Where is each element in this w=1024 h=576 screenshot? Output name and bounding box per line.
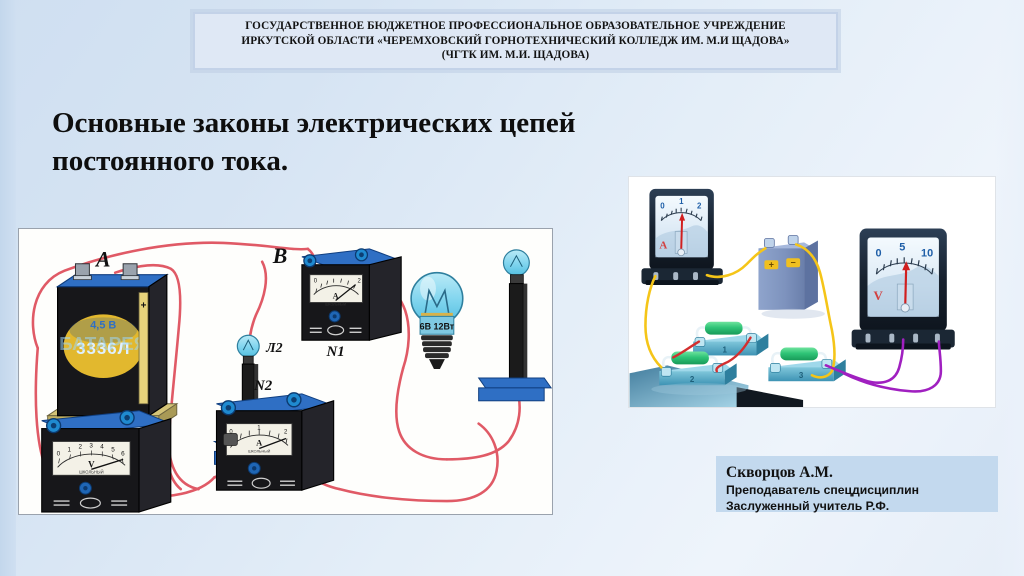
svg-text:ШКОЛЬНЫЙ: ШКОЛЬНЫЙ [325, 302, 346, 306]
battery-minus-label: − [791, 258, 796, 268]
svg-text:A: A [256, 437, 263, 447]
lab-setup-photo: 0 1 2 A [628, 176, 996, 408]
ammeter-n1: 0 2 A ШКОЛЬНЫЙ [302, 249, 401, 340]
svg-text:1: 1 [68, 446, 72, 453]
institution-line-3: (ЧГТК ИМ. М.И. ЩАДОВА) [442, 48, 589, 63]
meter-n1-label: N1 [326, 344, 345, 360]
svg-text:0: 0 [57, 450, 61, 457]
circuit-node-b-label: В [272, 244, 288, 268]
institution-line-2: ИРКУТСКОЙ ОБЛАСТИ «ЧЕРЕМХОВСКИЙ ГОРНОТЕХ… [241, 34, 789, 49]
photo-ammeter: 0 1 2 A [641, 189, 722, 285]
author-role: Преподаватель спецдисциплин [726, 482, 998, 498]
institution-line-1: ГОСУДАРСТВЕННОЕ БЮДЖЕТНОЕ ПРОФЕССИОНАЛЬН… [245, 19, 786, 34]
photo-voltmeter-unit: V [873, 289, 883, 303]
svg-text:2: 2 [357, 279, 360, 285]
resistor-2-label: 2 [690, 375, 695, 384]
author-honor: Заслуженный учитель Р.Ф. [726, 498, 998, 514]
slide-canvas: ГОСУДАРСТВЕННОЕ БЮДЖЕТНОЕ ПРОФЕССИОНАЛЬН… [0, 0, 1024, 576]
page-title-line-2: постоянного тока. [52, 142, 742, 180]
lamp-rating-label: 6В 12Вт [420, 321, 455, 331]
voltmeter-school: 012 345 6 V ШКОЛЬНЫЙ [42, 411, 171, 512]
photo-voltmeter-tick-5: 5 [899, 241, 905, 253]
svg-text:2: 2 [78, 443, 82, 450]
svg-text:4: 4 [100, 443, 104, 450]
battery-plus-label: + [769, 260, 774, 270]
left-accent-band [0, 0, 16, 576]
battery-voltage-label: 4,5 В [90, 319, 116, 331]
photo-ammeter-unit: A [659, 239, 667, 251]
author-name: Скворцов А.М. [726, 463, 998, 482]
institution-header: ГОСУДАРСТВЕННОЕ БЮДЖЕТНОЕ ПРОФЕССИОНАЛЬН… [193, 12, 838, 70]
photo-ammeter-tick-2: 2 [697, 202, 702, 211]
page-title: Основные законы электрических цепей пост… [52, 104, 742, 180]
photo-ammeter-tick-1: 1 [679, 197, 684, 206]
resistor-3-label: 3 [799, 371, 804, 380]
right-accent-band [994, 0, 1024, 576]
lamp-l2-label: Л2 [265, 341, 283, 356]
circuit-diagram-image: 4,5 В 3336Л БАТАРЕЯ + А В [18, 228, 553, 515]
page-title-line-1: Основные законы электрических цепей [52, 104, 742, 142]
voltmeter-caption: ШКОЛЬНЫЙ [79, 469, 104, 474]
battery-brand-label: БАТАРЕЯ [59, 333, 147, 354]
svg-text:2: 2 [284, 430, 287, 436]
svg-text:3: 3 [89, 442, 93, 449]
resistor-1-label: 1 [723, 345, 728, 354]
svg-text:ШКОЛЬНЫЙ: ШКОЛЬНЫЙ [248, 449, 270, 453]
svg-text:+: + [141, 300, 147, 311]
photo-voltmeter: 0 5 10 V [852, 229, 955, 350]
photo-voltmeter-tick-10: 10 [921, 247, 933, 259]
photo-voltmeter-tick-0: 0 [875, 247, 881, 259]
meter-n2-label: N2 [253, 378, 273, 394]
svg-text:6: 6 [121, 450, 125, 457]
svg-text:5: 5 [111, 446, 115, 453]
photo-ammeter-tick-0: 0 [660, 202, 665, 211]
circuit-node-a-label: А [94, 248, 111, 272]
author-block: Скворцов А.М. Преподаватель спецдисципли… [716, 456, 998, 512]
